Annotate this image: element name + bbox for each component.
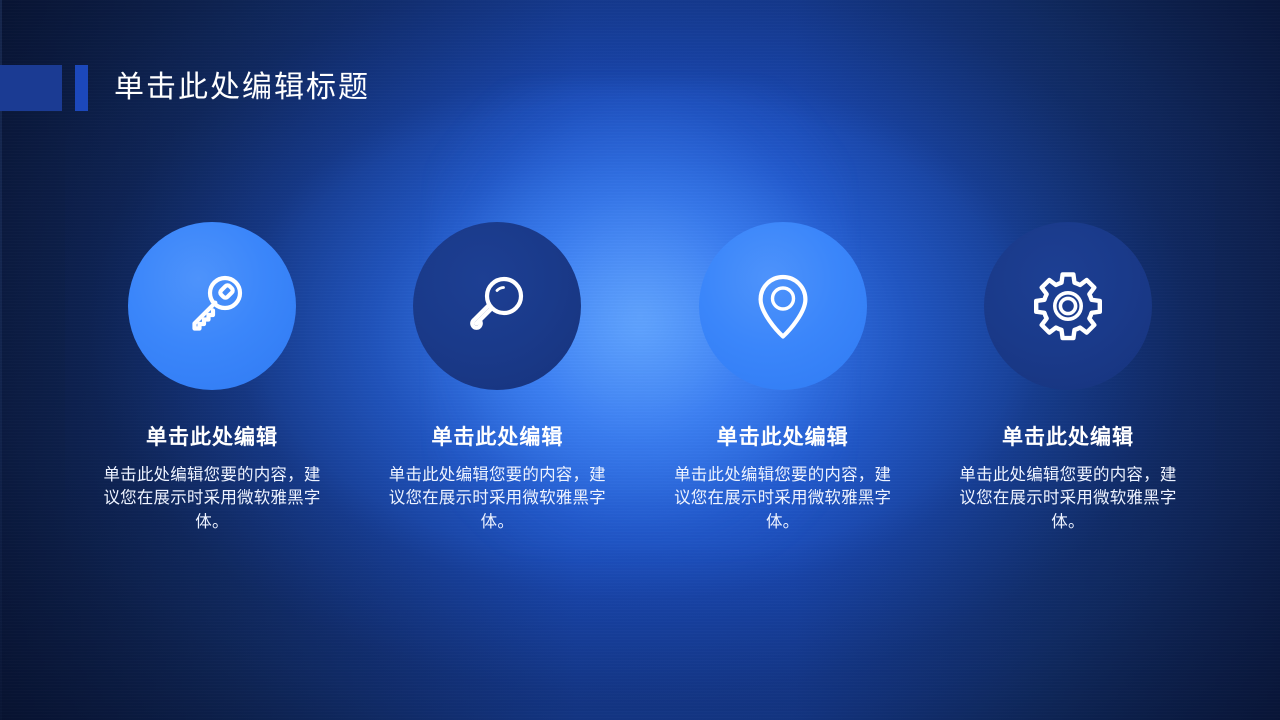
- title-accent-bar: [75, 65, 88, 111]
- page-title: 单击此处编辑标题: [114, 65, 370, 111]
- feature-body-2: 单击此处编辑您要的内容，建议您在展示时采用微软雅黑字体。: [387, 464, 607, 534]
- feature-column-1[interactable]: 单击此处编辑 单击此处编辑您要的内容，建议您在展示时采用微软雅黑字体。: [78, 222, 346, 534]
- feature-columns: 单击此处编辑 单击此处编辑您要的内容，建议您在展示时采用微软雅黑字体。 单击此处…: [78, 222, 1202, 534]
- feature-body-1: 单击此处编辑您要的内容，建议您在展示时采用微软雅黑字体。: [102, 464, 322, 534]
- feature-column-3[interactable]: 单击此处编辑 单击此处编辑您要的内容，建议您在展示时采用微软雅黑字体。: [649, 222, 917, 534]
- feature-heading-2: 单击此处编辑: [431, 421, 563, 451]
- search-icon: [459, 268, 535, 344]
- feature-heading-3: 单击此处编辑: [717, 421, 849, 451]
- feature-column-2[interactable]: 单击此处编辑 单击此处编辑您要的内容，建议您在展示时采用微软雅黑字体。: [363, 222, 631, 534]
- icon-circle-1[interactable]: [128, 222, 296, 390]
- feature-body-4: 单击此处编辑您要的内容，建议您在展示时采用微软雅黑字体。: [958, 464, 1178, 534]
- feature-body-3: 单击此处编辑您要的内容，建议您在展示时采用微软雅黑字体。: [673, 464, 893, 534]
- title-accent-block: [0, 65, 62, 111]
- feature-heading-1: 单击此处编辑: [146, 421, 278, 451]
- key-icon: [174, 268, 250, 344]
- feature-heading-4: 单击此处编辑: [1002, 421, 1134, 451]
- slide-title-row: 单击此处编辑标题: [0, 64, 370, 112]
- gear-icon: [1029, 267, 1107, 345]
- feature-column-4[interactable]: 单击此处编辑 单击此处编辑您要的内容，建议您在展示时采用微软雅黑字体。: [934, 222, 1202, 534]
- icon-circle-3[interactable]: [699, 222, 867, 390]
- icon-circle-2[interactable]: [413, 222, 581, 390]
- icon-circle-4[interactable]: [984, 222, 1152, 390]
- location-pin-icon: [745, 268, 821, 344]
- slide-canvas: 单击此处编辑标题 单击此处编辑 单击此处编辑您要的内容，建议您在展示时采用微软雅…: [0, 0, 1280, 720]
